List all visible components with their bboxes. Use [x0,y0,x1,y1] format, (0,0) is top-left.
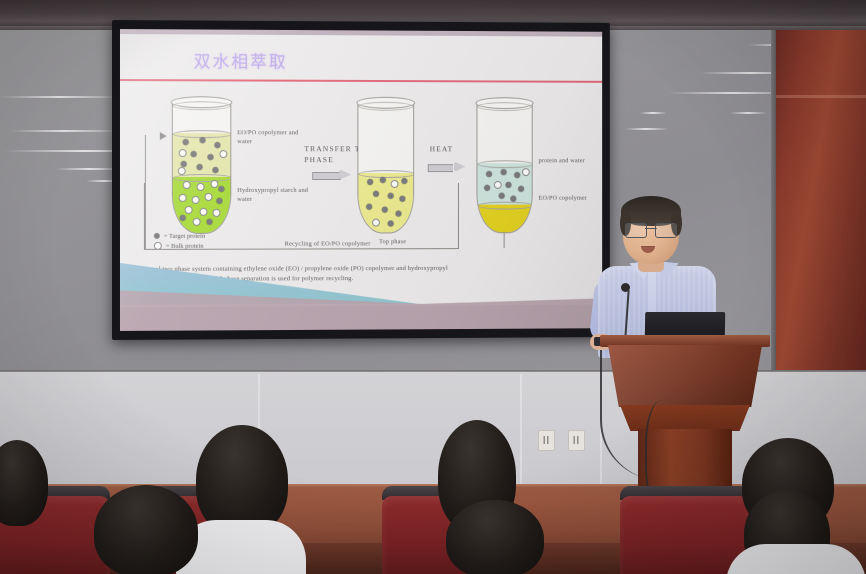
audience-head [196,425,288,535]
arrow-shaft [428,164,454,172]
target-protein-dot [518,186,524,192]
bulk-protein-dot [212,209,220,217]
heat-block-arrow-icon [428,161,463,172]
bulk-protein-dot [391,180,399,188]
legend-row-bulk: = Bulk protein [154,241,205,251]
target-protein-dot [191,151,197,157]
slide-title-rule [120,79,602,82]
beaker-2 [357,102,412,233]
bulk-protein-dot [178,167,186,175]
bulk-protein-dot [205,193,213,201]
target-protein-dot [207,219,213,225]
beaker-3 [476,102,530,232]
bulk-protein-dot [372,219,380,227]
wood-panel-seam [776,95,866,98]
target-protein-dot [183,139,189,145]
target-protein-dot [212,167,218,173]
target-protein-dot [382,207,388,213]
beaker-3-bottom-phase-label: EO/PO copolymer [538,195,592,204]
projection-screen-frame: 双水相萃取 [112,20,610,340]
target-protein-dot [396,211,402,217]
power-outlet[interactable] [538,430,555,451]
slide-title: 双水相萃取 [194,47,288,72]
beaker-1-body [172,101,232,234]
audience-head [446,500,544,574]
filled-circle-icon [154,233,160,239]
target-protein-dot [506,182,512,188]
recycling-drop-line [504,232,505,248]
beaker-3-rim-inner [477,102,531,111]
target-protein-dot [214,142,220,148]
target-protein-dot [499,193,505,199]
bulk-protein-dot [179,149,187,157]
legend-label-bulk: = Bulk protein [166,242,204,249]
outlet-slots-icon [573,436,580,444]
legend-label-target: = Target protein [164,232,205,239]
bulk-protein-dot [193,218,201,226]
beaker-1 [172,101,230,233]
target-protein-dot [486,171,492,177]
target-protein-dot [399,196,405,202]
beaker-3-top-phase-label: protein and water [538,157,592,166]
bulk-protein-dot [494,181,502,189]
glasses-lens-right [655,223,677,238]
beaker-2-liquid-surface [358,170,414,178]
slide-footer-band [120,305,602,331]
open-circle-icon [154,242,162,250]
target-protein-dot [388,221,394,227]
bulk-protein-dot [185,206,193,214]
beaker-1-top-phase-label: EO/PO copolymer and water [237,129,310,147]
bulk-protein-dot [192,196,200,204]
bulk-protein-dot [197,183,205,191]
bulk-protein-dot [522,168,530,176]
target-protein-dot [197,164,203,170]
beaker-2-caption: Top phase [363,238,422,247]
arrow-head [454,161,465,172]
beaker-2-rim-inner [358,102,413,111]
beaker-3-body [476,102,532,233]
wall-highlight-streak [640,112,666,114]
legend-row-target: = Target protein [154,231,205,241]
projection-screen: 双水相萃取 [120,29,602,331]
beaker-1-rim-inner [173,101,231,110]
wall-panel-seam [520,374,522,492]
beaker-2-body [357,102,414,234]
target-protein-dot [180,215,186,221]
target-protein-dot [216,198,222,204]
wall-highlight-streak [625,128,667,130]
bulk-protein-dot [219,150,227,158]
power-outlet[interactable] [568,430,585,451]
target-protein-dot [218,186,224,192]
arrow-shaft [312,172,340,180]
bulk-protein-dot [210,180,218,188]
wall-highlight-streak [730,112,766,114]
target-protein-dot [501,169,507,175]
diagram-legend: = Target protein = Bulk protein [154,231,205,251]
audience-shoulders [726,544,866,574]
target-protein-dot [484,185,490,191]
recycling-label: Recycling of EO/PO copolymer [285,240,371,249]
beaker-3-interface [477,202,532,210]
beaker-1-interface [173,174,232,182]
target-protein-dot [208,154,214,160]
target-protein-dot [380,177,386,183]
target-protein-dot [373,191,379,197]
target-protein-dot [510,196,516,202]
bulk-protein-dot [179,194,187,202]
seat-back[interactable] [620,496,750,574]
audience-head [94,485,198,574]
bulk-protein-dot [183,181,191,189]
lecture-hall-scene: 双水相萃取 [0,0,866,574]
recycling-arrow-head-icon [160,132,167,140]
heat-arrow-label: HEAT [430,143,454,154]
wall-highlight-streak [10,130,118,132]
beaker-3-liquid-surface [477,160,532,168]
target-protein-dot [514,172,520,178]
target-protein-dot [401,178,407,184]
target-protein-dot [200,137,206,143]
transfer-block-arrow-icon [312,169,351,180]
beaker-1-bottom-phase-label: Hydroxypropyl starch and water [237,187,310,205]
outlet-slots-icon [543,436,550,444]
slide-top-band [120,29,602,37]
target-protein-dot [366,204,372,210]
glasses-lens-left [625,223,647,238]
two-phase-extraction-diagram: EO/PO copolymer and water Hydroxypropyl … [138,91,589,256]
target-protein-dot [388,193,394,199]
bulk-protein-dot [200,208,208,216]
arrow-head [339,169,352,180]
glasses-icon [625,223,677,236]
wall-highlight-streak [0,96,118,98]
target-protein-dot [367,179,373,185]
